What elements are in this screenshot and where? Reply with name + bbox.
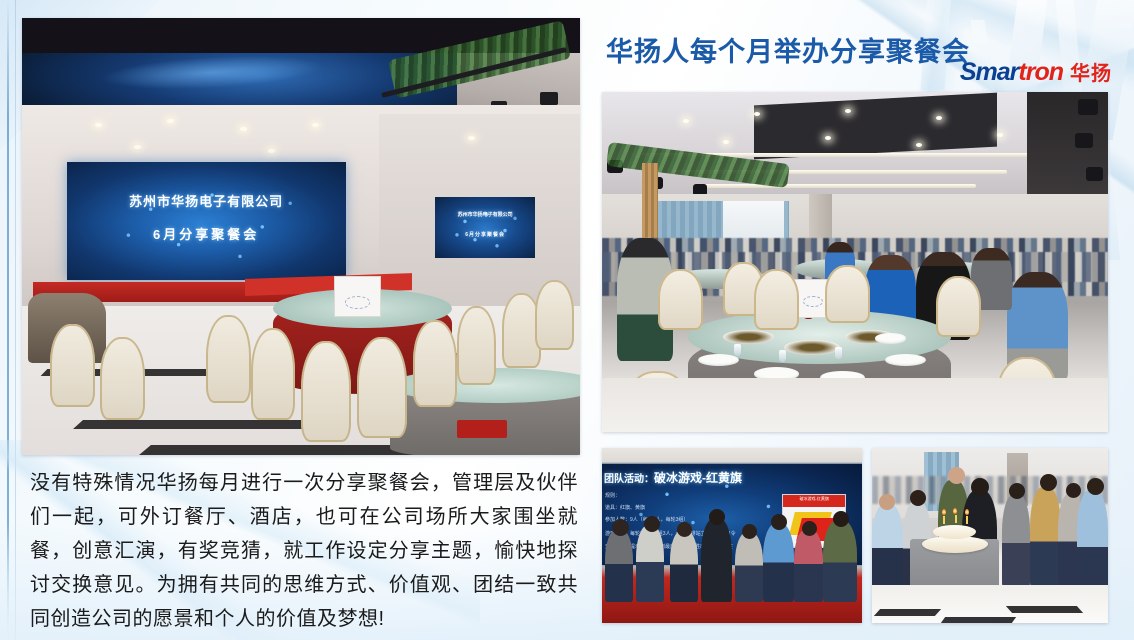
- photo-icebreaker-game: 团队活动：破冰游戏-红黄旗 规则： 道具：红旗、黄旗 参加人数：9人（每组3人，…: [602, 448, 862, 623]
- banquet-chair: [825, 265, 871, 323]
- banquet-glass: [779, 350, 786, 362]
- banquet-stage-light: [1086, 167, 1103, 181]
- banquet-downlight: [997, 133, 1003, 137]
- hall-gift-box: [457, 420, 507, 437]
- banquet-downlight: [825, 136, 831, 140]
- banquet-dish: [723, 330, 774, 344]
- hall-chair: [413, 320, 458, 407]
- icebreaker-participant: [763, 523, 794, 602]
- photo-hall-overview: 苏州市华扬电子有限公司 6月分享聚餐会 苏州市华扬电子有限公司 6月分享聚餐会: [22, 18, 580, 455]
- icebreaker-participant: [636, 525, 665, 602]
- banquet-stage-light: [1078, 99, 1098, 115]
- hall-side-led-screen: 苏州市华扬电子有限公司 6月分享聚餐会: [435, 197, 535, 258]
- banquet-plate: [698, 354, 738, 366]
- cake-candle: [943, 516, 945, 524]
- banquet-downlight: [845, 109, 851, 113]
- icebreaker-participant-head: [802, 521, 817, 536]
- hall-main-led-screen: 苏州市华扬电子有限公司 6月分享聚餐会: [67, 162, 346, 280]
- birthday-cake-top-tier: [933, 525, 975, 539]
- slide-canvas: 华扬人每个月举办分享聚餐会 Smartron 华扬 苏州市华扬电子有限公司 6月…: [0, 0, 1134, 640]
- led-screen-event-name: 6月分享聚餐会: [67, 224, 346, 243]
- icebreaker-participant-head: [644, 516, 660, 532]
- body-paragraph: 没有特殊情况华扬每月进行一次分享聚餐会，管理层及伙伴们一起，可外订餐厅、酒店，也…: [30, 466, 578, 636]
- brand-logo: Smartron 华扬: [960, 60, 1112, 85]
- banquet-downlight: [723, 140, 729, 144]
- logo-text: Smartron: [960, 60, 1063, 85]
- banquet-chair: [754, 269, 800, 330]
- icebreaker-participant: [701, 518, 732, 602]
- cake-attendee-head: [910, 490, 926, 506]
- hall-downlight: [167, 119, 174, 123]
- page-title: 华扬人每个月举办分享聚餐会: [606, 30, 970, 69]
- cake-attendee: [1002, 494, 1030, 589]
- banquet-glass: [734, 344, 741, 356]
- banquet-plate: [885, 354, 925, 366]
- icebreaker-participant: [794, 529, 823, 603]
- cake-attendee-head: [1009, 483, 1025, 499]
- cake-candle: [955, 515, 957, 523]
- hall-chair: [457, 306, 496, 385]
- banquet-chair: [658, 269, 704, 330]
- cake-attendee-head: [1087, 478, 1104, 495]
- banquet-downlight: [936, 116, 942, 120]
- left-accent-line: [7, 0, 9, 640]
- cake-attendee: [872, 504, 903, 592]
- cake-attendee-head: [1066, 483, 1081, 498]
- icebreaker-participant: [823, 520, 857, 602]
- cart-shelf: [913, 568, 995, 573]
- cake-candle: [966, 516, 968, 524]
- hall-chair: [535, 280, 574, 350]
- icebreaker-screen-title: 团队活动：破冰游戏-红黄旗: [604, 469, 742, 486]
- icebreaker-rule-line: 规则：: [605, 492, 620, 499]
- banquet-downlight: [916, 143, 922, 147]
- hall-downlight: [134, 145, 141, 149]
- led-network-graphic: [67, 162, 346, 280]
- side-led-company-name: 苏州市华扬电子有限公司: [435, 211, 535, 218]
- hall-chair: [50, 324, 95, 407]
- cake-attendee-head: [879, 494, 895, 510]
- hall-table-placard: [334, 276, 381, 317]
- icebreaker-participant: [670, 530, 699, 602]
- icebreaker-title-prefix: 团队活动：: [604, 474, 654, 485]
- hall-downlight: [312, 123, 319, 127]
- icebreaker-participant: [735, 532, 764, 602]
- photo-birthday-cake: [872, 448, 1108, 623]
- banquet-stage-light: [1075, 133, 1093, 148]
- cake-attendee-head: [948, 467, 965, 484]
- hall-downlight: [95, 123, 102, 127]
- icebreaker-rule-line: 道具：红旗、黄旗: [605, 504, 645, 511]
- banquet-floor: [602, 378, 1108, 432]
- logo-text-tron: tron: [1018, 58, 1063, 86]
- cake-attendee: [1077, 490, 1108, 592]
- cake-floor-tile-stripe: [1006, 606, 1083, 613]
- icebreaker-title-main: 破冰游戏-红黄旗: [654, 471, 742, 485]
- hall-chair: [206, 315, 251, 402]
- logo-text-smar: Smar: [960, 58, 1019, 86]
- icebreaker-participant-head: [709, 509, 725, 525]
- cake-floor-tile-stripe: [874, 609, 942, 616]
- logo-text-chinese: 华扬: [1070, 64, 1112, 84]
- banquet-bowl: [875, 333, 905, 343]
- icebreaker-flag-card-label: 破冰游戏-红黄旗: [783, 495, 845, 508]
- cake-attendee-head: [1040, 474, 1057, 491]
- photo-banquet-dinner: [602, 92, 1108, 432]
- icebreaker-participant-head: [612, 519, 629, 536]
- cake-floor-tile-stripe: [941, 617, 1016, 623]
- left-accent-line-thin: [15, 0, 16, 640]
- banquet-glass: [835, 347, 842, 359]
- hall-floor-tile-stripe: [73, 420, 340, 429]
- led-screen-company-name: 苏州市华扬电子有限公司: [67, 191, 346, 210]
- icebreaker-participant: [605, 529, 634, 603]
- hall-stage-light: [540, 92, 558, 105]
- hall-chair: [251, 328, 296, 420]
- banquet-chair: [936, 276, 982, 337]
- cake-birthday-person-head: [971, 478, 989, 496]
- banquet-cove-light: [703, 184, 976, 188]
- hall-chair: [100, 337, 145, 420]
- cake-attendee: [1030, 487, 1061, 589]
- side-led-event-name: 6月分享聚餐会: [435, 231, 535, 238]
- led-network-graphic: [435, 197, 535, 258]
- candle-flame-icon: [942, 509, 946, 515]
- hall-chair: [301, 341, 351, 442]
- hall-chair: [357, 337, 407, 438]
- hall-downlight: [268, 149, 275, 153]
